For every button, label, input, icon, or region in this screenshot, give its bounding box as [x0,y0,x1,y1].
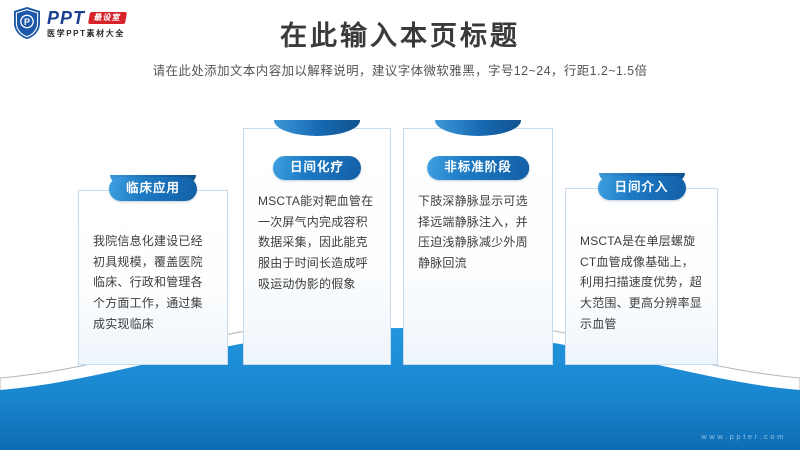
slide-canvas: P PPT 最设室 医学PPT素材大全 在此输入本页标题 请在此处添加文本内容加… [0,0,800,450]
card-cap-ornament [274,120,360,136]
shield-icon: P [12,6,42,40]
card-label-badge: 日间化疗 [273,156,361,180]
content-card[interactable]: 日间介入 MSCTA是在单层螺旋CT血管成像基础上，利用扫描速度优势，超大范围、… [565,188,718,365]
card-label-badge: 临床应用 [109,177,197,201]
brand-logo: P PPT 最设室 医学PPT素材大全 [12,6,126,40]
content-card[interactable]: 日间化疗 MSCTA能对靶血管在一次屏气内完成容积数据采集，因此能克服由于时间长… [243,128,391,365]
site-watermark: www.ppter.com [701,432,786,441]
card-body-text: 我院信息化建设已经初具规模，覆盖医院临床、行政和管理各个方面工作，通过集成实现临… [79,231,227,334]
card-label-badge: 非标准阶段 [427,156,529,180]
brand-tagline: 医学PPT素材大全 [47,30,126,38]
brand-wordmark: PPT 最设室 医学PPT素材大全 [47,6,126,40]
card-body-text: MSCTA是在单层螺旋CT血管成像基础上，利用扫描速度优势，超大范围、更高分辨率… [566,231,717,334]
brand-name: PPT [47,9,85,27]
card-body-text: 下肢深静脉显示可选择远端静脉注入，并压迫浅静脉减少外周静脉回流 [404,191,552,274]
card-label-badge: 日间介入 [597,176,685,200]
card-body-text: MSCTA能对靶血管在一次屏气内完成容积数据采集，因此能克服由于时间长造成呼吸运… [244,191,390,294]
svg-text:P: P [24,17,30,27]
content-card[interactable]: 临床应用 我院信息化建设已经初具规模，覆盖医院临床、行政和管理各个方面工作，通过… [78,190,228,365]
brand-badge: 最设室 [88,12,127,24]
card-cap-ornament [435,120,521,136]
content-card[interactable]: 非标准阶段 下肢深静脉显示可选择远端静脉注入，并压迫浅静脉减少外周静脉回流 [403,128,553,365]
page-subtitle: 请在此处添加文本内容加以解释说明，建议字体微软雅黑，字号12~24，行距1.2~… [0,60,800,79]
